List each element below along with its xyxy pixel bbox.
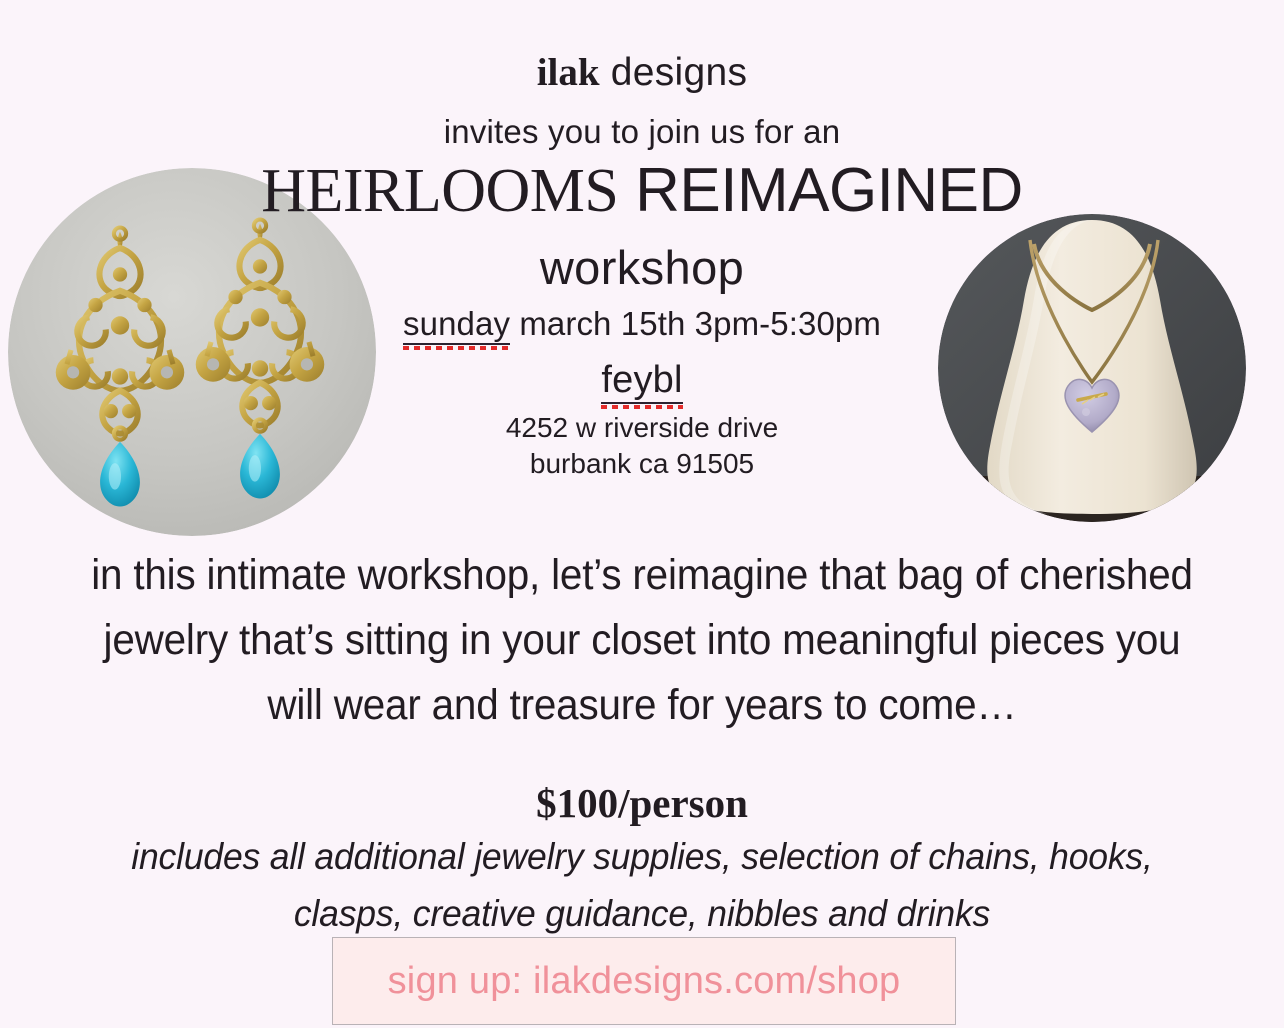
event-datetime: sunday march 15th 3pm-5:30pm [0,303,1284,345]
brand-name-serif: ilak [537,51,600,94]
signup-cta-label[interactable]: sign up: ilakdesigns.com/shop [388,958,901,1004]
headline-heirlooms: HEIRLOOMS [261,157,618,225]
includes-text: includes all additional jewelry supplies… [85,828,1199,942]
headline-reimagined: REIMAGINED [618,156,1022,225]
price-label: $100/person [0,779,1284,827]
flyer-canvas: ilak designs invites you to join us for … [0,0,1284,1028]
page-title: HEIRLOOMS REIMAGINED [0,163,1284,235]
brand-title: ilak designs [0,50,1284,96]
event-day: sunday [403,305,510,345]
signup-cta-box[interactable]: sign up: ilakdesigns.com/shop [332,937,956,1025]
invite-line: invites you to join us for an [0,112,1284,152]
event-date-time: march 15th 3pm-5:30pm [510,305,881,342]
venue-name: feybl [601,359,682,404]
brand-name-sans: designs [600,51,748,94]
subtitle-workshop: workshop [0,240,1284,296]
includes-line-1: includes all additional jewelry supplies… [131,836,1039,877]
address-line-1: 4252 w riverside drive [0,410,1284,446]
address-line-2: burbank ca 91505 [0,446,1284,482]
description-paragraph: in this intimate workshop, let’s reimagi… [78,543,1206,738]
venue-name-wrap: feybl [0,356,1284,404]
